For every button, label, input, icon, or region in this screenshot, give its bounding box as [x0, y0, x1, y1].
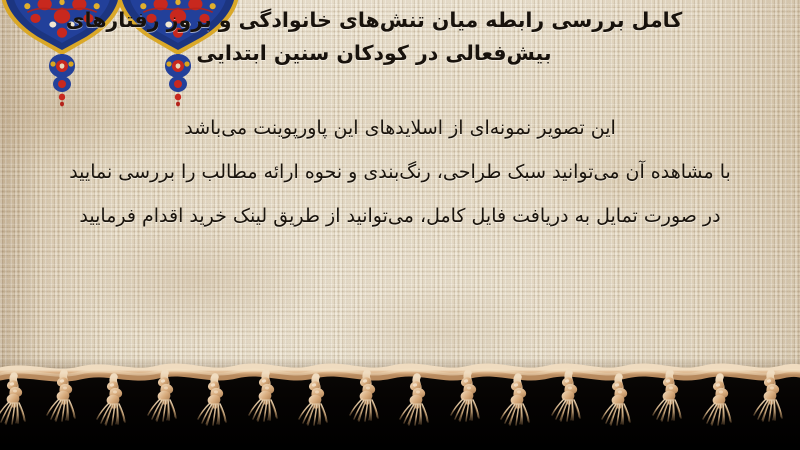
body-line-2: با مشاهده آن می‌توانید سبک طراحی، رنگ‌بن… [0, 150, 800, 194]
body-line-3: در صورت تمایل به دریافت فایل کامل، می‌تو… [0, 194, 800, 238]
fringe-tassels-svg [0, 358, 800, 450]
title-line-2: بیش‌فعالی در کودکان سنین ابتدایی [0, 37, 800, 70]
body-line-1: این تصویر نمونه‌ای از اسلایدهای این پاور… [0, 106, 800, 150]
slide-canvas: کامل بررسی رابطه میان تنش‌های خانوادگی و… [0, 0, 800, 450]
tassel-row [0, 373, 782, 425]
slide-title: کامل بررسی رابطه میان تنش‌های خانوادگی و… [0, 4, 800, 70]
title-line-1: کامل بررسی رابطه میان تنش‌های خانوادگی و… [0, 4, 800, 37]
slide-body: این تصویر نمونه‌ای از اسلایدهای این پاور… [0, 106, 800, 238]
carpet-fringe [0, 358, 800, 450]
